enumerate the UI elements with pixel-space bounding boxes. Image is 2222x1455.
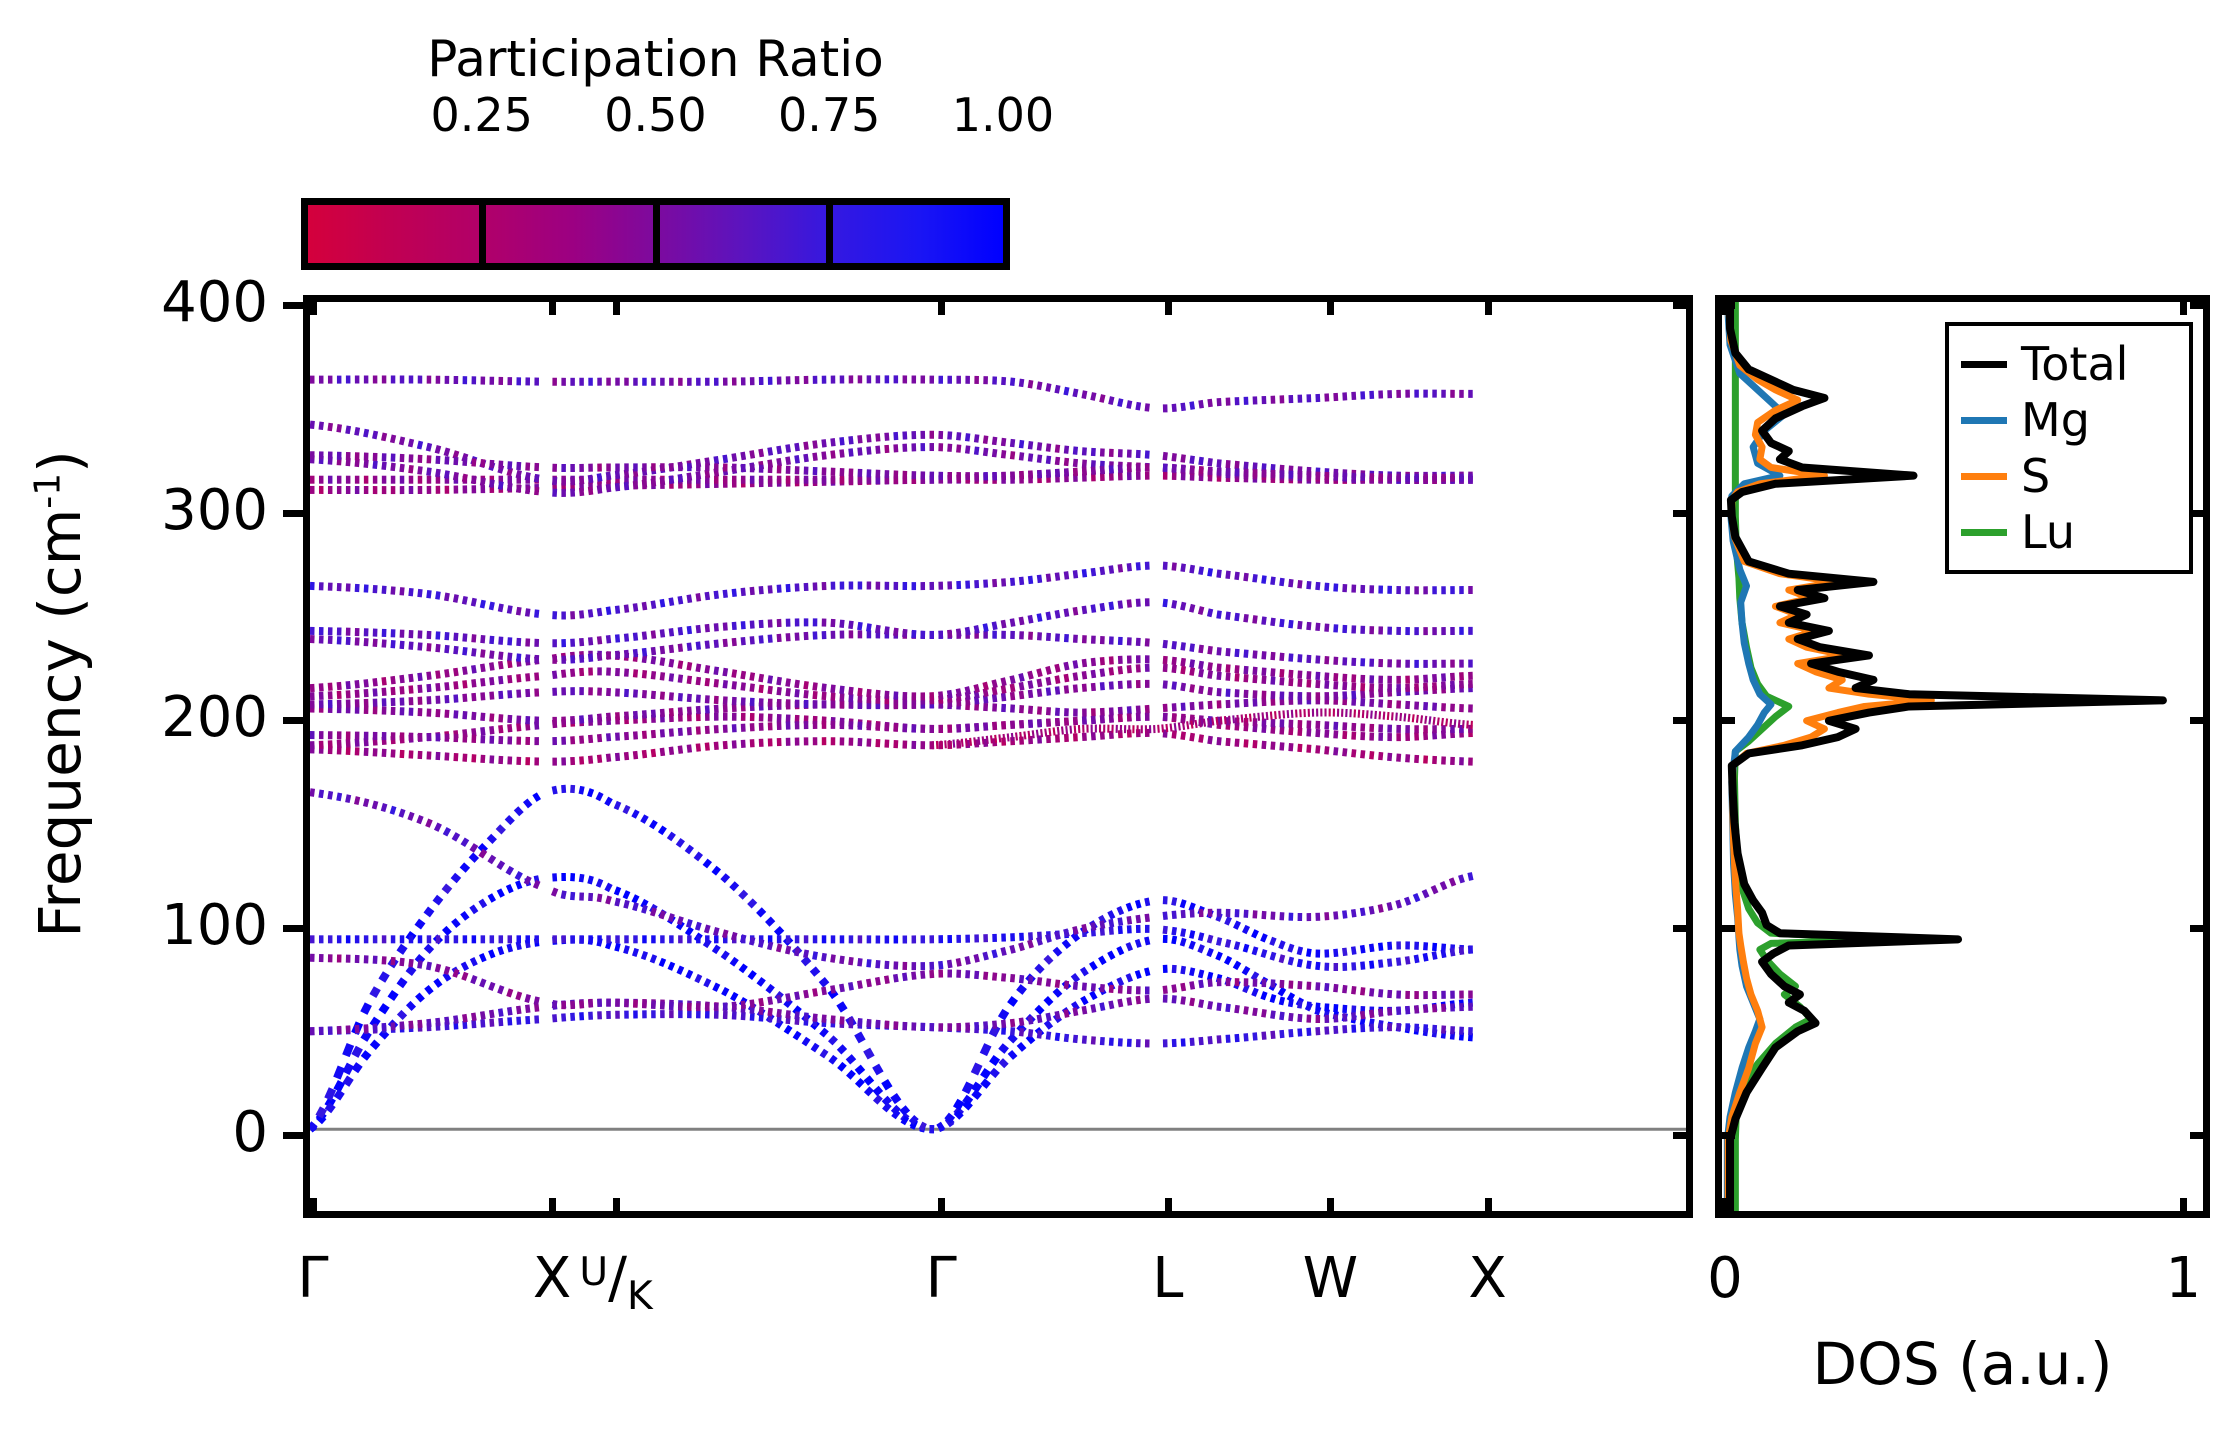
band-ytick-right-100 — [1673, 925, 1693, 932]
band-curve-O8 — [310, 700, 1473, 721]
band-xtick-top-6 — [1485, 295, 1492, 315]
dos-ytick-left-200 — [1715, 717, 1735, 724]
band-curve-O13 — [310, 602, 1473, 643]
legend-item-s: S — [1961, 448, 2177, 504]
dos-xtick-bottom-1 — [2180, 1198, 2187, 1218]
dos-x-axis-label: DOS (a.u.) — [1715, 1330, 2210, 1398]
dos-ytick-left-100 — [1715, 925, 1735, 932]
legend-label-mg: Mg — [2021, 397, 2090, 443]
dos-ytick-right-0 — [2190, 1132, 2210, 1139]
legend-label-lu: Lu — [2021, 509, 2075, 555]
dos-ytick-right-300 — [2190, 510, 2210, 517]
legend-swatch-mg — [1961, 417, 2007, 424]
legend-item-mg: Mg — [1961, 392, 2177, 448]
dos-ytick-right-400 — [2190, 302, 2210, 309]
dos-ytick-left-0 — [1715, 1132, 1735, 1139]
band-xlabel-3: Γ — [831, 1246, 1051, 1311]
band-xlabel-0: Γ — [203, 1246, 423, 1311]
band-xtick-bottom-5 — [1327, 1198, 1334, 1218]
band-ytick-right-300 — [1673, 510, 1693, 517]
xtick-frac-num: U — [579, 1250, 608, 1295]
colorbar-title: Participation Ratio — [308, 30, 1003, 88]
band-ytick-right-200 — [1673, 717, 1693, 724]
band-curves — [303, 295, 1693, 1218]
band-xlabel-2: U/K — [506, 1246, 726, 1311]
dos-xlabel-1: 1 — [2083, 1246, 2222, 1311]
band-xtick-top-4 — [1165, 295, 1172, 315]
band-ytick-200 — [283, 717, 303, 724]
band-xtick-bottom-6 — [1485, 1198, 1492, 1218]
legend-swatch-total — [1961, 361, 2007, 368]
colorbar-label-0.25: 0.25 — [407, 92, 557, 138]
legend-label-total: Total — [2021, 341, 2128, 387]
band-ylabel-0: 0 — [0, 1100, 268, 1165]
dos-ytick-right-200 — [2190, 717, 2210, 724]
xtick-frac-U-K: U/K — [579, 1246, 652, 1311]
band-xtick-top-3 — [938, 295, 945, 315]
band-ytick-right-0 — [1673, 1132, 1693, 1139]
y-axis-label-paren: ) — [26, 450, 94, 473]
band-xtick-top-0 — [310, 295, 317, 315]
dos-xtick-bottom-0 — [1722, 1198, 1729, 1218]
band-curve-O14 — [310, 566, 1473, 616]
legend-swatch-s — [1961, 473, 2007, 480]
band-ylabel-400: 400 — [0, 270, 268, 335]
colorbar-label-0.75: 0.75 — [754, 92, 904, 138]
band-ylabel-100: 100 — [0, 893, 268, 958]
legend-label-s: S — [2021, 453, 2050, 499]
dos-ytick-right-100 — [2190, 925, 2210, 932]
legend-item-lu: Lu — [1961, 504, 2177, 560]
band-ytick-0 — [283, 1132, 303, 1139]
dos-ytick-left-300 — [1715, 510, 1735, 517]
dos-legend: TotalMgSLu — [1945, 322, 2193, 574]
band-curve-O19 — [310, 379, 1473, 408]
band-xtick-top-5 — [1327, 295, 1334, 315]
colorbar-tick-0.50 — [653, 205, 660, 263]
xtick-frac-den: K — [627, 1274, 653, 1319]
band-xtick-top-1 — [549, 295, 556, 315]
band-xtick-bottom-3 — [938, 1198, 945, 1218]
xtick-frac-slash: / — [608, 1246, 627, 1311]
band-ytick-100 — [283, 925, 303, 932]
band-ylabel-200: 200 — [0, 685, 268, 750]
legend-swatch-lu — [1961, 529, 2007, 536]
colorbar-tick-0.75 — [826, 205, 833, 263]
band-xlabel-6: X — [1378, 1246, 1598, 1311]
band-ytick-right-400 — [1673, 302, 1693, 309]
dos-xtick-top-1 — [2180, 295, 2187, 315]
band-ylabel-300: 300 — [0, 478, 268, 543]
legend-item-total: Total — [1961, 336, 2177, 392]
dos-xlabel-0: 0 — [1625, 1246, 1825, 1311]
band-xtick-bottom-1 — [549, 1198, 556, 1218]
band-xtick-bottom-2 — [613, 1198, 620, 1218]
band-xtick-bottom-4 — [1165, 1198, 1172, 1218]
band-ytick-400 — [283, 302, 303, 309]
colorbar-label-0.50: 0.50 — [581, 92, 731, 138]
dos-xtick-top-0 — [1722, 295, 1729, 315]
colorbar-tick-0.25 — [479, 205, 486, 263]
band-xtick-top-2 — [613, 295, 620, 315]
band-xtick-bottom-0 — [310, 1198, 317, 1218]
band-structure-plot — [303, 295, 1693, 1218]
figure-root: Participation Ratio 0.250.500.751.00 Fre… — [0, 0, 2222, 1455]
band-ytick-300 — [283, 510, 303, 517]
colorbar-label-1.00: 1.00 — [928, 92, 1078, 138]
